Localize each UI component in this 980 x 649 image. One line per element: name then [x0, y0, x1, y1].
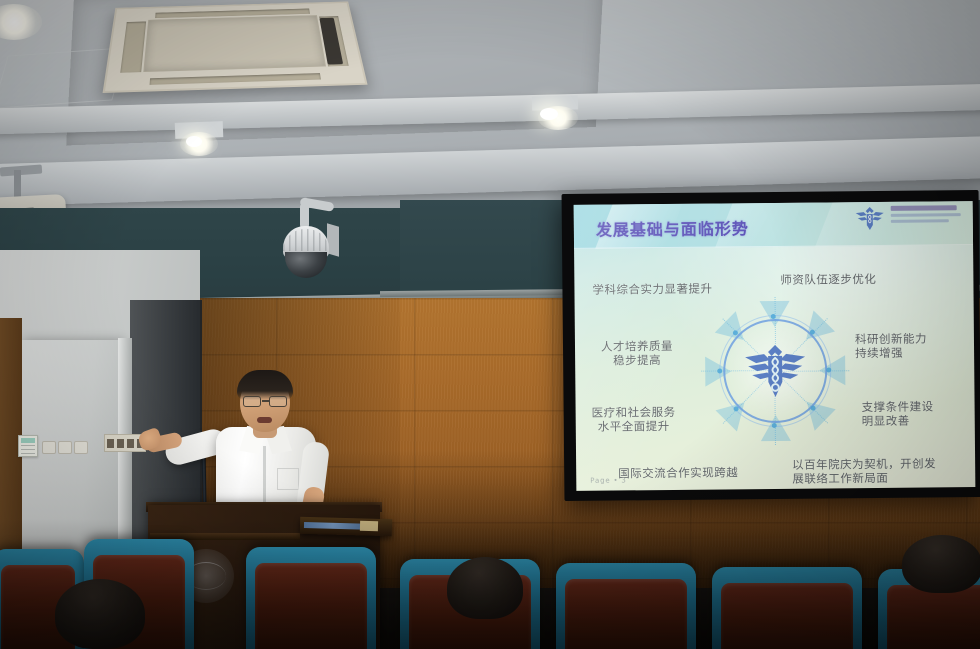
ac-vent-bottom — [150, 73, 320, 85]
hub-node-dot — [717, 368, 722, 373]
downlight-bulb-icon — [540, 108, 558, 120]
hub-node-dot — [733, 406, 738, 411]
caduceus-emblem-icon — [742, 339, 807, 404]
ac-filter-panel — [143, 15, 325, 71]
slide-item-bottom-left: 医疗和社会服务 水平全面提升 — [592, 405, 676, 434]
slide-page-number: Page • 3 — [590, 476, 626, 484]
speaker-shirt-pocket — [277, 468, 299, 490]
slide-hub-graphic — [699, 295, 850, 446]
lecture-hall-photo: 发展基础与面临形势 — [0, 0, 980, 649]
slide-title: 发展基础与面临形势 — [596, 215, 749, 240]
ceiling — [0, 0, 980, 215]
light-switch[interactable] — [58, 441, 72, 454]
university-wordmark — [891, 205, 965, 228]
ceiling-ac-unit — [103, 1, 368, 93]
slide-surface: 发展基础与面临形势 — [574, 201, 976, 491]
slide-item-top-left: 学科综合实力显著提升 — [592, 282, 712, 297]
hub-node-dot — [770, 314, 775, 319]
wall-notice-card — [18, 435, 38, 457]
audience-seat — [712, 567, 862, 649]
slide-item-base-left: 国际交流合作实现跨越 — [618, 465, 738, 480]
projection-screen: 发展基础与面临形势 — [562, 190, 980, 501]
hub-node-dot — [732, 330, 737, 335]
audience-member-head — [902, 535, 980, 593]
hub-node-dot — [809, 330, 814, 335]
slide-item-top-right: 师资队伍逐步优化 — [780, 272, 876, 287]
audience-member-head — [447, 557, 523, 619]
audience-seat — [556, 563, 696, 649]
hub-node-dot — [810, 406, 815, 411]
hub-node-dot — [826, 367, 831, 372]
downlight-icon — [0, 4, 42, 40]
audience-seat — [246, 547, 376, 649]
speaker-mouth — [257, 417, 272, 423]
slide-item-bottom-right: 支撑条件建设 明显改善 — [862, 399, 934, 428]
podium-shelf-tag — [360, 521, 378, 531]
camera-housing-ribs — [283, 229, 329, 251]
slide-item-middle-right: 科研创新能力 持续增强 — [855, 332, 927, 361]
eyeglasses-icon — [240, 396, 290, 408]
slide-item-middle-left: 人才培养质量 稳步提高 — [601, 339, 673, 368]
downlight-bulb-icon — [186, 136, 202, 147]
slide-item-base-right: 以百年院庆为契机，开创发 展联络工作新局面 — [792, 456, 936, 485]
winged-caduceus-logo-icon — [853, 205, 887, 233]
ac-vent-left — [120, 22, 145, 73]
hub-node-dot — [771, 423, 776, 428]
light-switch[interactable] — [42, 441, 56, 454]
light-switch[interactable] — [74, 441, 88, 454]
audience-member-head — [55, 579, 145, 649]
